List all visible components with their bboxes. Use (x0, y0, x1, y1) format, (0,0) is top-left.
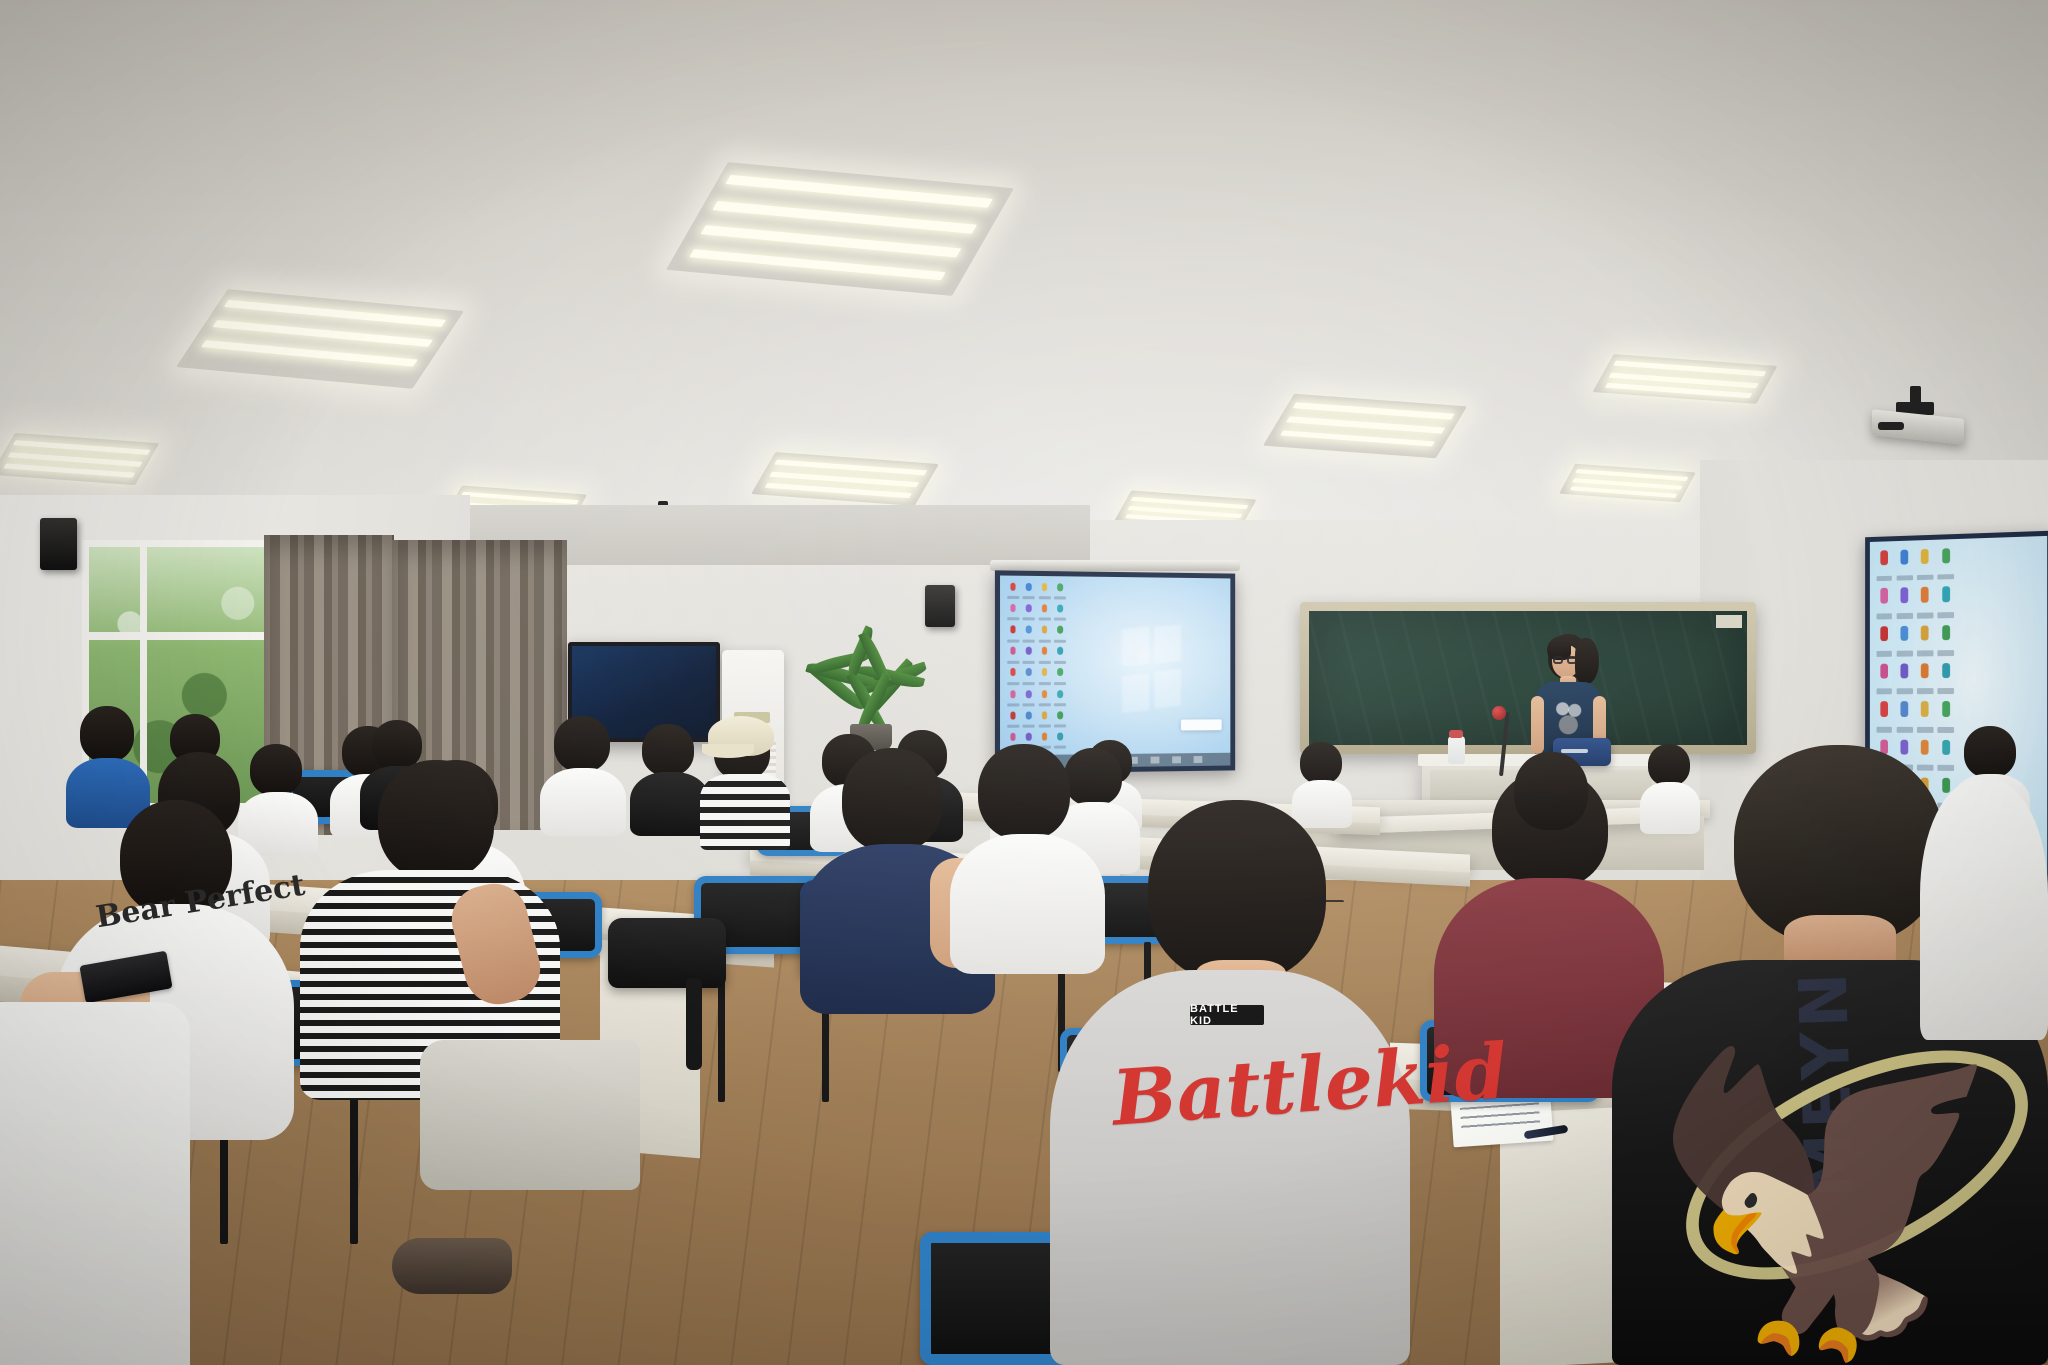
desktop-icon-glyph (1042, 711, 1048, 719)
desktop-icon-glyph (1057, 626, 1063, 634)
desktop-icon-glyph (1942, 701, 1950, 716)
projection-screen-roller (990, 560, 1240, 571)
desktop-icon-label (1876, 727, 1892, 733)
desktop-icon-label (1054, 724, 1066, 727)
notification-toast[interactable] (1181, 719, 1221, 731)
desktop-icon-label (1054, 639, 1066, 642)
desktop-icon-glyph (1942, 548, 1950, 563)
desktop-icon-glyph (1026, 668, 1032, 676)
desktop-icon-glyph (1921, 625, 1929, 640)
desktop-icon-glyph (1042, 583, 1048, 591)
desktop-icon-glyph (1042, 626, 1048, 634)
desktop-icon[interactable] (1022, 689, 1036, 708)
desktop-icon[interactable] (1022, 710, 1036, 729)
desktop-icon-label (1007, 682, 1019, 685)
desktop-icon-glyph (1921, 663, 1929, 678)
desktop-icon[interactable] (1916, 547, 1935, 584)
desktop-icon-glyph (1026, 626, 1032, 634)
desktop-icon-label (1054, 703, 1066, 706)
student-back-7 (630, 724, 710, 828)
desktop-icon[interactable] (1006, 646, 1020, 665)
desktop-icon[interactable] (1022, 603, 1036, 622)
desktop-icon-glyph (1901, 626, 1909, 641)
desktop-icon-glyph (1010, 625, 1016, 633)
window-mullion-horizontal (82, 632, 282, 640)
desktop-icon[interactable] (1895, 585, 1914, 621)
student-striped-sandal (392, 1238, 512, 1294)
eagle-graphic: 🦅 (1633, 1018, 2048, 1365)
desktop-icon[interactable] (1875, 586, 1893, 622)
desktop-icon[interactable] (1936, 584, 1955, 621)
desktop-icon-label (1054, 661, 1066, 664)
desktop-icon-glyph (1057, 604, 1063, 612)
desktop-icon-label (1007, 639, 1019, 642)
desktop-icon-label (1023, 703, 1035, 706)
desktop-icon-label (1938, 612, 1955, 618)
desktop-icon-glyph (1010, 711, 1016, 719)
desktop-icon[interactable] (1895, 547, 1914, 583)
desktop-icon-label (1876, 575, 1892, 581)
desktop-icon-glyph (1901, 550, 1909, 565)
desktop-icon-label (1896, 689, 1912, 695)
desktop-icon-glyph (1010, 690, 1016, 698)
desktop-icon-glyph (1057, 583, 1063, 591)
desktop-icon-label (1896, 575, 1912, 581)
desk-leg-3 (1500, 1107, 1630, 1365)
desktop-icon-glyph (1921, 701, 1929, 716)
desktop-icon-glyph (1010, 647, 1016, 655)
desktop-icon-label (1896, 727, 1912, 733)
desktop-icon-label (1039, 596, 1051, 599)
desktop-icon[interactable] (1895, 661, 1914, 697)
desktop-icon-glyph (1057, 668, 1063, 676)
desktop-icon[interactable] (1006, 689, 1020, 708)
desktop-icon[interactable] (1038, 710, 1052, 729)
desktop-icon[interactable] (1053, 625, 1067, 644)
desktop-icon-label (1039, 725, 1051, 728)
desktop-icon[interactable] (1916, 623, 1935, 659)
desktop-icon[interactable] (1895, 623, 1914, 659)
desktop-icon[interactable] (1006, 603, 1020, 623)
desktop-icon[interactable] (1053, 710, 1067, 729)
backpack (608, 918, 726, 988)
desktop-icon-glyph (1042, 604, 1048, 612)
desktop-icon-label (1917, 689, 1933, 695)
desktop-icon-glyph (1010, 604, 1016, 612)
desktop-icon-label (1917, 574, 1933, 580)
desktop-icon-glyph (1057, 711, 1063, 719)
desktop-icon-label (1023, 661, 1035, 664)
desktop-icon[interactable] (1053, 603, 1067, 622)
desktop-icon-label (1876, 613, 1892, 619)
classroom-photo: Bear Perfect BATTLE KID Battlekid MEYN 🦅 (0, 0, 2048, 1365)
desktop-icon-label (1007, 618, 1019, 621)
desktop-icon-label (1876, 689, 1892, 695)
student-striped-shorts (420, 1040, 640, 1190)
student-battlekid-shirt (1050, 970, 1410, 1365)
desktop-icon-glyph (1057, 690, 1063, 698)
desktop-icon[interactable] (1936, 661, 1955, 697)
desktop-icon-glyph (1057, 647, 1063, 655)
desktop-icon-glyph (1057, 732, 1063, 740)
desktop-icon-glyph (1042, 732, 1048, 740)
desktop-icon-label (1039, 682, 1051, 685)
desktop-icon[interactable] (1053, 689, 1067, 708)
student-glasses-right (1500, 752, 1620, 902)
desktop-icon[interactable] (1895, 699, 1914, 735)
backpack-strap (686, 978, 702, 1070)
desktop-icon-label (1938, 688, 1955, 694)
desktop-icon-glyph (1042, 668, 1048, 676)
desktop-icon-glyph (1901, 664, 1909, 679)
desktop-icon-label (1917, 650, 1933, 656)
desktop-icon[interactable] (1038, 667, 1052, 686)
desktop-icon-glyph (1921, 549, 1929, 564)
desktop-icon-label (1023, 639, 1035, 642)
desktop-icon[interactable] (1006, 667, 1020, 686)
desktop-icon-glyph (1010, 733, 1016, 741)
desktop-icon[interactable] (1038, 603, 1052, 622)
desktop-icon[interactable] (1006, 624, 1020, 643)
windows-logo-watermark (1122, 624, 1181, 713)
desktop-icon-glyph (1880, 701, 1888, 716)
desktop-icon-label (1023, 682, 1035, 685)
student-striped-glasses (384, 822, 450, 828)
student-capped-shirt (700, 774, 790, 850)
desktop-icon-label (1938, 574, 1955, 580)
desktop-icon[interactable] (1022, 624, 1036, 643)
desktop-icon[interactable] (1038, 646, 1052, 665)
desktop-icon-glyph (1026, 711, 1032, 719)
desktop-icon-label (1007, 725, 1019, 728)
desktop-icon-glyph (1026, 604, 1032, 612)
desktop-icon-label (1007, 596, 1019, 599)
desktop-icon[interactable] (1875, 699, 1893, 735)
desktop-icon[interactable] (1038, 582, 1052, 601)
chalkboard-corner-tag (1716, 615, 1742, 628)
desktop-icon[interactable] (1936, 546, 1955, 583)
desktop-icon[interactable] (1875, 624, 1893, 660)
desktop-icon-glyph (1901, 701, 1909, 716)
desktop-icon-glyph (1042, 690, 1048, 698)
desktop-icon-label (1054, 618, 1066, 621)
student-capped (700, 716, 790, 836)
desktop-icon[interactable] (1006, 581, 1020, 601)
desktop-icon-label (1876, 651, 1892, 657)
desktop-icon-label (1039, 703, 1051, 706)
desktop-icon-glyph (1942, 587, 1950, 602)
desktop-icon-label (1896, 613, 1912, 619)
desktop-icon-glyph (1880, 626, 1888, 641)
student-front-left-torso (0, 1002, 190, 1365)
wall-speaker (40, 518, 77, 570)
student-battlekid-head (1148, 800, 1326, 982)
desktop-icon-label (1054, 597, 1066, 600)
desktop-icon-glyph (1026, 733, 1032, 741)
desktop-icon[interactable] (1006, 710, 1020, 730)
desktop-icon-label (1039, 661, 1051, 664)
desktop-icon[interactable] (1022, 646, 1036, 665)
desktop-icon-glyph (1026, 690, 1032, 698)
student-glasses-3-frames (1516, 796, 1566, 802)
water-bottle (1448, 736, 1465, 764)
desktop-icon-glyph (1042, 647, 1048, 655)
desktop-icon[interactable] (1038, 624, 1052, 643)
student-white-far-right (1920, 780, 2048, 1040)
student-battlekid-glasses (1300, 900, 1344, 906)
desktop-icon-label (1917, 727, 1933, 733)
desktop-icon[interactable] (1916, 585, 1935, 621)
desktop-icon[interactable] (1038, 689, 1052, 708)
desktop-icon-label (1039, 618, 1051, 621)
desktop-icon-glyph (1901, 588, 1909, 603)
battlekid-collar-tag: BATTLE KID (1190, 1005, 1264, 1025)
desktop-icon-label (1917, 612, 1933, 618)
desktop-icon-label (1007, 703, 1019, 706)
desktop-icon-glyph (1010, 583, 1016, 591)
desktop-icon[interactable] (1022, 582, 1036, 602)
presenter-shirt-graphic (1553, 700, 1585, 740)
desktop-icon[interactable] (1022, 667, 1036, 686)
desktop-icon-glyph (1942, 663, 1950, 678)
desktop-icon-glyph (1942, 625, 1950, 640)
desktop-icon-label (1938, 650, 1955, 656)
microphone-head (1492, 706, 1506, 720)
desktop-icon[interactable] (1875, 548, 1893, 584)
desktop-icon[interactable] (1916, 699, 1935, 735)
desktop-icon-label (1896, 651, 1912, 657)
cap-brim (702, 744, 754, 758)
desktop-icon-glyph (1026, 583, 1032, 591)
desktop-icon[interactable] (1916, 661, 1935, 697)
desktop-icon-label (1039, 639, 1051, 642)
desktop-icon-label (1007, 661, 1019, 664)
desktop-icon-glyph (1880, 550, 1888, 565)
desktop-icon-grid[interactable] (1006, 581, 1067, 751)
desktop-icon-glyph (1880, 588, 1888, 603)
desktop-icon-label (1054, 682, 1066, 685)
desktop-icon-label (1023, 725, 1035, 728)
desktop-icon-glyph (1010, 668, 1016, 676)
desktop-icon[interactable] (1053, 646, 1067, 665)
desktop-icon[interactable] (1936, 623, 1955, 659)
desktop-icon-label (1023, 618, 1035, 621)
presenter-ponytail (1575, 638, 1599, 684)
desktop-icon-glyph (1921, 587, 1929, 602)
desktop-icon-label (1023, 596, 1035, 599)
desktop-icon[interactable] (1875, 662, 1893, 698)
water-bottle-cap (1449, 730, 1463, 738)
desktop-icon[interactable] (1053, 582, 1067, 601)
desktop-icon-glyph (1026, 647, 1032, 655)
desktop-icon-glyph (1880, 664, 1888, 679)
desktop-icon[interactable] (1053, 667, 1067, 686)
